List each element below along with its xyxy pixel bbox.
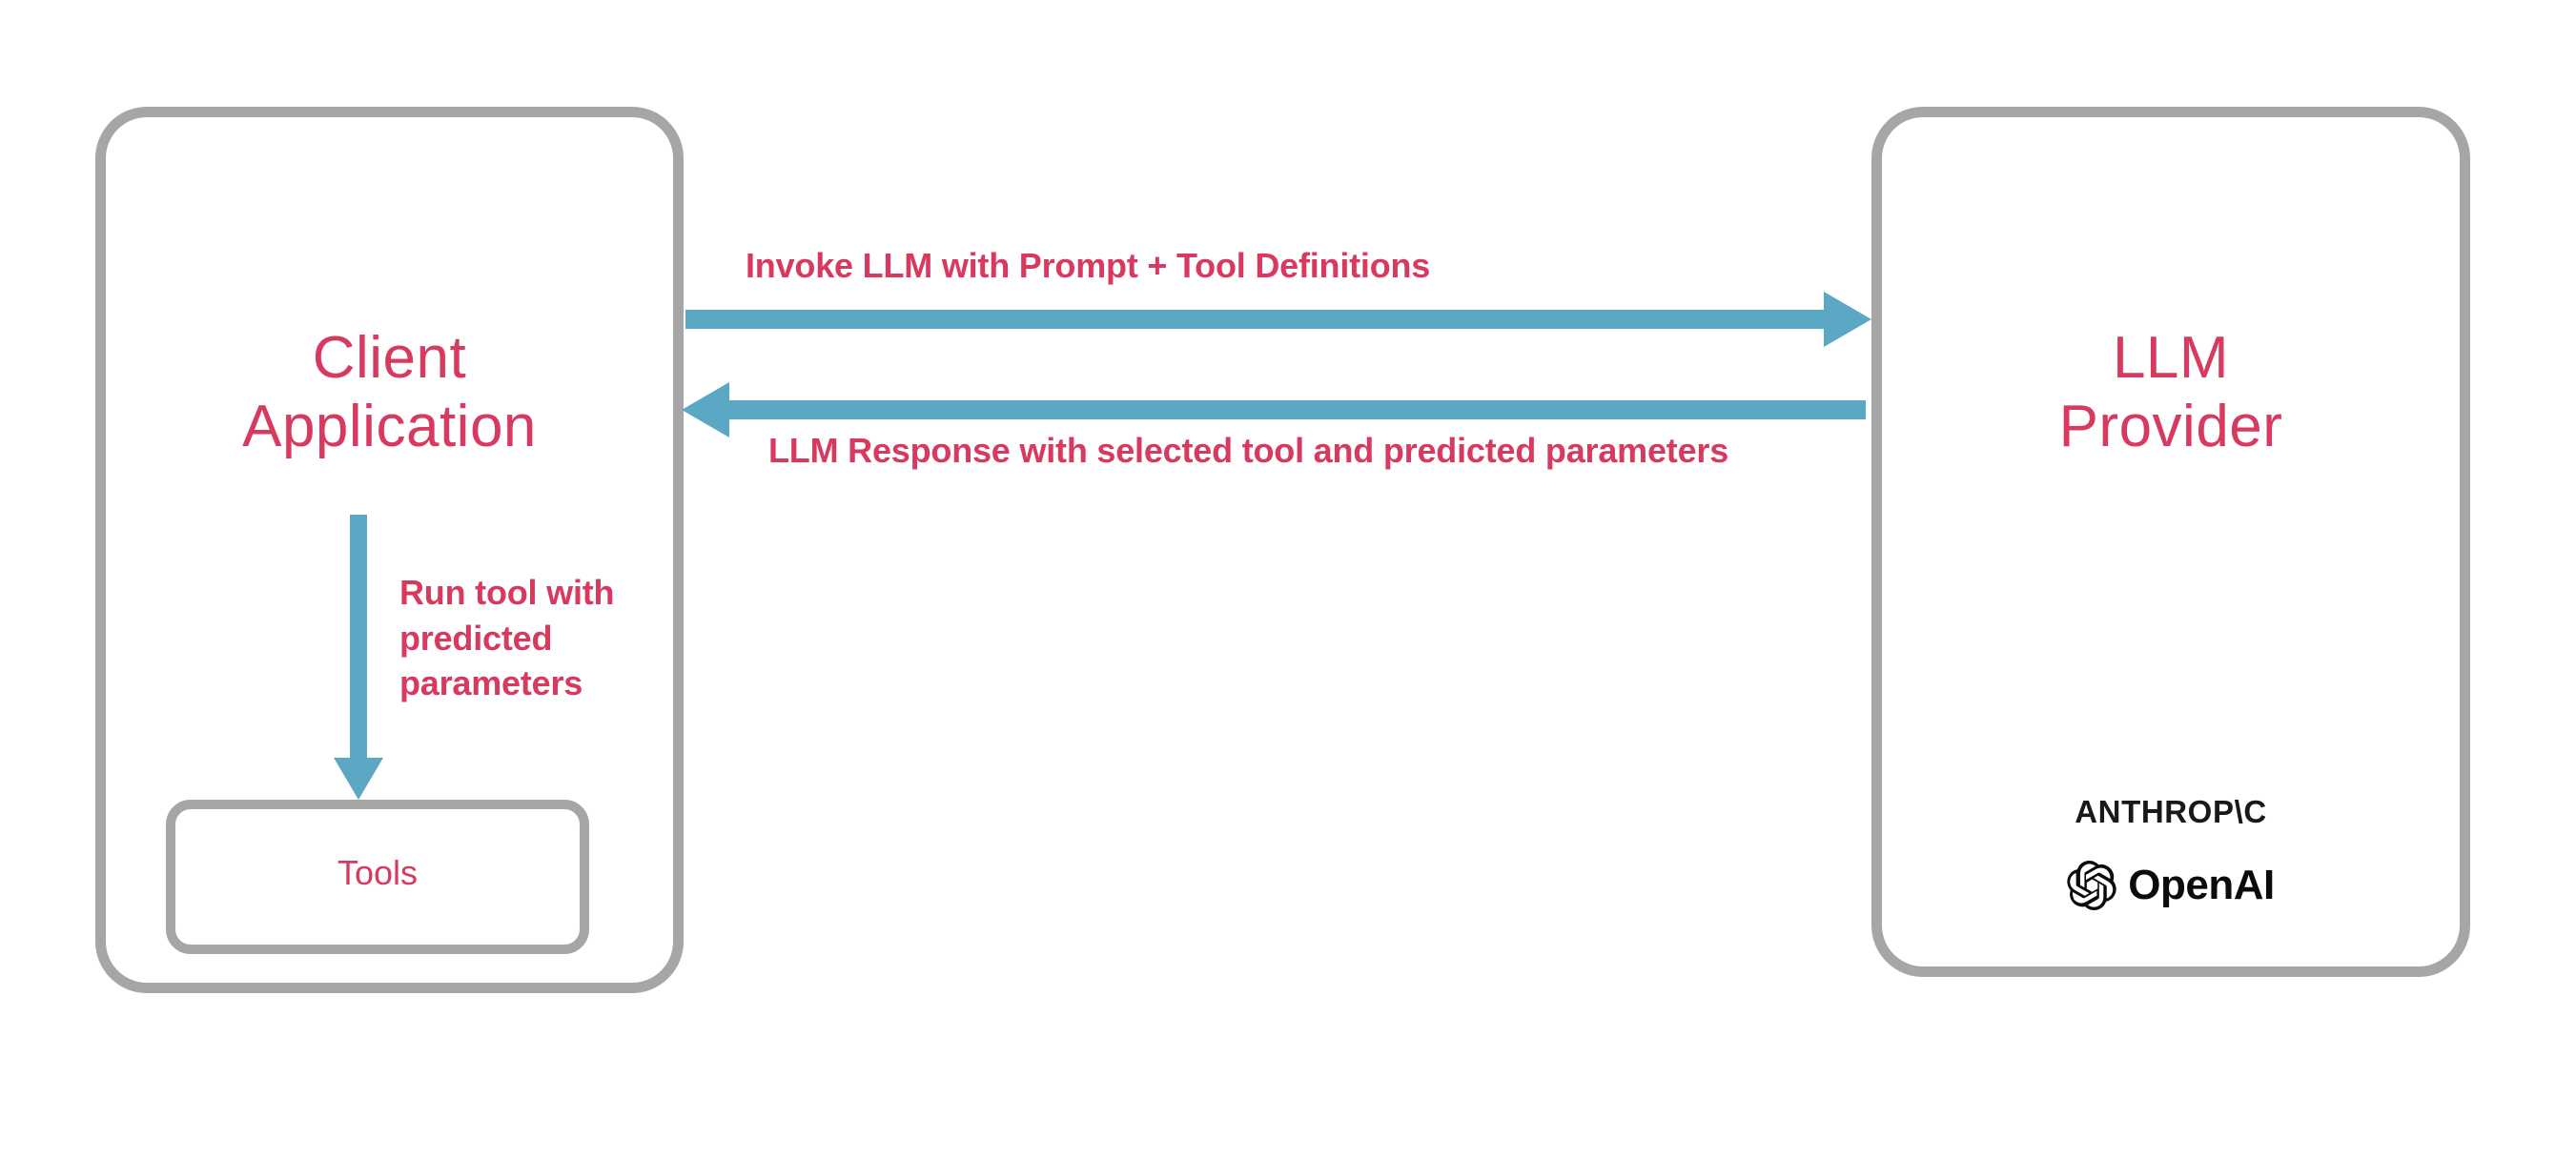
- diagram-canvas: ClientApplication Tools LLMProvider ANTH…: [0, 0, 2576, 1159]
- run-tool-line2: predicted: [399, 619, 552, 658]
- arrow-run-tool: [334, 515, 383, 800]
- connector-arrows: [0, 0, 2576, 1159]
- run-tool-line3: parameters: [399, 663, 583, 702]
- edge-label-llm-response: LLM Response with selected tool and pred…: [768, 431, 1728, 471]
- edge-label-run-tool: Run tool withpredictedparameters: [399, 570, 676, 706]
- arrow-llm-response: [682, 382, 1866, 437]
- arrow-invoke: [685, 292, 1871, 347]
- run-tool-line1: Run tool with: [399, 573, 614, 612]
- edge-label-invoke: Invoke LLM with Prompt + Tool Definition…: [746, 246, 1430, 286]
